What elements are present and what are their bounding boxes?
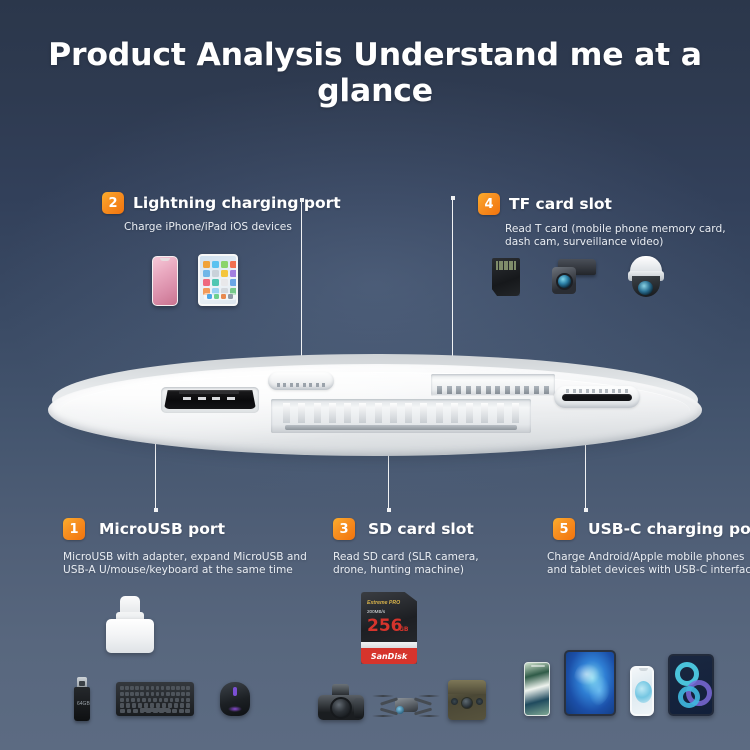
- callout-description: Read T card (mobile phone memory card, d…: [505, 223, 726, 250]
- ptz-security-camera-icon: [626, 256, 666, 298]
- tablet-blue-icon: [564, 650, 616, 716]
- microusb-port: [161, 387, 259, 413]
- usb-c-otg-adapter-icon: [105, 596, 155, 654]
- callout-badge-1: 1: [63, 518, 85, 540]
- sd-card-brand: SanDisk: [361, 648, 417, 664]
- sd-card-capacity: 256: [367, 618, 403, 635]
- sd-bottom-bar: [285, 425, 517, 430]
- dslr-camera-icon: [318, 684, 364, 720]
- trail-camera-icon: [448, 680, 486, 720]
- sd-teeth: [283, 403, 519, 423]
- callout-badge-5: 5: [553, 518, 575, 540]
- dashcam-lens: [556, 273, 573, 290]
- callout-description: Charge Android/Apple mobile phones and t…: [547, 551, 750, 578]
- tablet-wallpaper: [574, 662, 610, 706]
- callout-title: Lightning charging port: [133, 194, 341, 212]
- leader-dot: [451, 196, 455, 200]
- tf-teeth: [437, 386, 549, 394]
- leader-dot: [584, 508, 588, 512]
- callout-title: USB-C charging port: [588, 520, 750, 538]
- dslr-lens: [330, 697, 352, 719]
- ipad-app-grid: [203, 261, 237, 295]
- usb-flash-drive-icon: 64GB: [74, 677, 90, 721]
- keyboard-spacebar: [140, 708, 170, 712]
- iphone-pink-icon: [152, 256, 178, 306]
- trailcam-top: [448, 680, 486, 694]
- usbc-teeth: [566, 389, 628, 393]
- lightning-slot: [268, 372, 334, 390]
- tf-card-slot: [431, 374, 555, 396]
- callout-description: MicroUSB with adapter, expand MicroUSB a…: [63, 551, 307, 578]
- microsd-card-icon: [492, 258, 520, 296]
- ipad-dock: [204, 293, 236, 300]
- callout-title: TF card slot: [509, 195, 612, 213]
- trailcam-led: [476, 698, 483, 705]
- sd-card-capacity-unit: GB: [399, 626, 409, 633]
- device-group-tf: [492, 256, 666, 298]
- leader-dot: [154, 508, 158, 512]
- drone-rotor: [372, 715, 394, 717]
- callout-description: Charge iPhone/iPad iOS devices: [124, 221, 341, 234]
- callout-description: Read SD card (SLR camera, drone, hunting…: [333, 551, 479, 578]
- usbc-hole: [562, 394, 632, 401]
- dslr-grip: [354, 698, 363, 718]
- callout-sd-card-slot: 3 SD card slot Read SD card (SLR camera,…: [333, 518, 479, 578]
- sd-card-icon: Extreme PRO 200MB/s 256 GB SanDisk: [361, 592, 417, 664]
- android-phone-green-icon: [524, 662, 550, 716]
- callout-header: 4 TF card slot: [478, 193, 726, 215]
- device-group-sd-peripherals: [318, 680, 486, 720]
- dash-cam-icon: [550, 259, 596, 295]
- drone-icon: [378, 690, 434, 720]
- device-group-sd-card: Extreme PRO 200MB/s 256 GB SanDisk: [361, 592, 417, 664]
- trailcam-led: [451, 698, 458, 705]
- callout-badge-2: 2: [102, 192, 124, 214]
- usb-drive-body: 64GB: [74, 687, 90, 721]
- callout-header: 5 USB-C charging port: [553, 518, 750, 540]
- ipad-wallpaper-ring: [678, 686, 700, 708]
- sd-card-line: Extreme PRO: [367, 600, 400, 606]
- device-group-usbc: [524, 650, 714, 716]
- callout-title: SD card slot: [368, 520, 474, 538]
- callout-usbc-charging-port: 5 USB-C charging port Charge Android/App…: [553, 518, 750, 578]
- drone-rotor: [418, 695, 440, 697]
- ipad-blue-icon: [668, 654, 714, 716]
- mouse-icon: [220, 682, 250, 716]
- usb-drive-label: 64GB: [77, 701, 90, 707]
- microusb-lip: [179, 391, 239, 394]
- callout-header: 3 SD card slot: [333, 518, 479, 540]
- product-hub: [46, 352, 704, 462]
- callout-microusb-port: 1 MicroUSB port MicroUSB with adapter, e…: [63, 518, 307, 578]
- callout-tf-card-slot: 4 TF card slot Read T card (mobile phone…: [478, 193, 726, 250]
- drone-rotor: [418, 715, 440, 717]
- infographic-canvas: Product Analysis Understand me at a glan…: [0, 0, 750, 750]
- mouse-glow: [228, 706, 242, 712]
- ipad-white-icon: [198, 254, 238, 306]
- callout-header: 1 MicroUSB port: [63, 518, 307, 540]
- callout-title: MicroUSB port: [99, 520, 225, 538]
- device-group-otg-adapter: [105, 596, 155, 654]
- callout-header: 2 Lightning charging port: [102, 192, 341, 214]
- microusb-pins: [183, 397, 235, 401]
- ptz-lens: [638, 281, 653, 295]
- device-group-lightning: [152, 254, 238, 306]
- lightning-port: [268, 372, 334, 390]
- page-title: Product Analysis Understand me at a glan…: [0, 37, 750, 109]
- otg-body: [106, 619, 154, 653]
- usb-c-port: [554, 386, 640, 408]
- iphone-wallpaper: [635, 681, 652, 703]
- callout-badge-3: 3: [333, 518, 355, 540]
- leader-dot: [387, 508, 391, 512]
- keyboard-icon: [116, 682, 194, 716]
- microsd-pins: [496, 261, 516, 270]
- iphone-white-icon: [630, 666, 654, 716]
- trailcam-lens: [461, 697, 473, 709]
- mouse-wheel: [233, 687, 237, 696]
- callout-badge-4: 4: [478, 193, 500, 215]
- sd-card-speed: 200MB/s: [367, 609, 385, 614]
- device-group-microusb-peripherals: 64GB: [74, 677, 250, 721]
- dslr-viewfinder: [332, 684, 349, 695]
- callout-lightning-charging-port: 2 Lightning charging port Charge iPhone/…: [102, 192, 341, 234]
- lightning-teeth: [277, 383, 325, 387]
- sd-card-slot: [271, 399, 531, 433]
- drone-rotor: [372, 695, 394, 697]
